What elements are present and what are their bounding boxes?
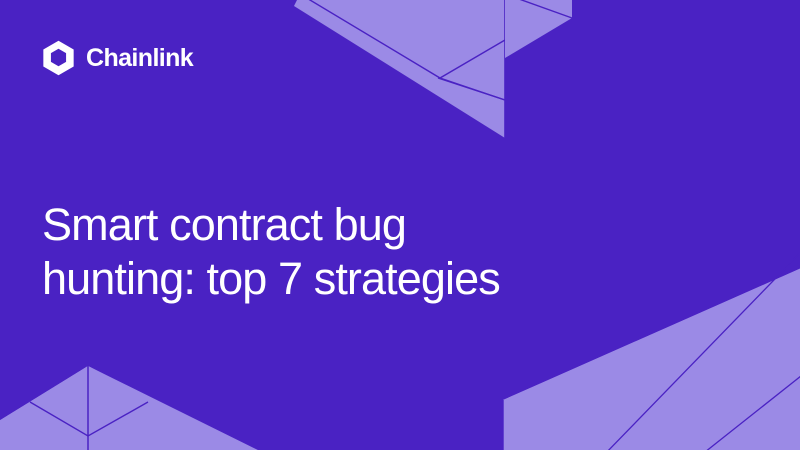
- chainlink-hexagon-icon: [42, 40, 75, 76]
- page-title-line-1: Smart contract bug: [42, 198, 662, 252]
- page-title-line-2: hunting: top 7 strategies: [42, 252, 662, 306]
- brand-lockup[interactable]: Chainlink: [42, 40, 193, 76]
- blog-cover-card: Chainlink Smart contract bug hunting: to…: [0, 0, 800, 450]
- cover-content: Chainlink Smart contract bug hunting: to…: [0, 0, 800, 450]
- page-title: Smart contract bug hunting: top 7 strate…: [42, 198, 662, 306]
- brand-name: Chainlink: [86, 46, 193, 71]
